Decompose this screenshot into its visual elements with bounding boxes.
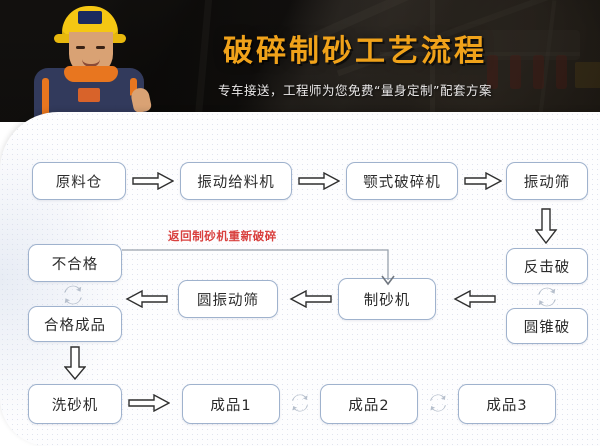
flow-node-label: 反击破 xyxy=(524,256,571,277)
flow-node-label: 圆锥破 xyxy=(524,316,571,337)
arrow-right-washer-to-product1 xyxy=(128,394,170,412)
flow-node-unqualified[interactable]: 不合格 xyxy=(28,244,122,282)
flow-node-jaw-crusher[interactable]: 颚式破碎机 xyxy=(346,162,458,200)
recycle-arrows-icon xyxy=(428,393,448,417)
banner-title: 破碎制砂工艺流程 xyxy=(0,26,600,70)
arrow-right-silo-to-feeder xyxy=(132,172,174,190)
flow-node-product-1[interactable]: 成品1 xyxy=(182,384,280,424)
arrow-right-jaw-to-screen xyxy=(464,172,502,190)
flow-node-label: 振动筛 xyxy=(524,171,571,192)
flow-node-label: 洗砂机 xyxy=(52,394,99,415)
arrow-left-crushers-to-sandmaker xyxy=(452,290,496,308)
flow-node-label: 原料仓 xyxy=(56,171,103,192)
flow-node-vibrating-feeder[interactable]: 振动给料机 xyxy=(180,162,292,200)
flow-node-label: 振动给料机 xyxy=(197,171,275,192)
banner-subtitle: 专车接送，工程师为您免费“量身定制”配套方案 xyxy=(0,80,600,99)
arrow-right-feeder-to-jaw xyxy=(298,172,340,190)
flowchart-card: 原料仓 振动给料机 颚式破碎机 振动筛 xyxy=(0,112,600,446)
flow-node-label: 不合格 xyxy=(52,253,99,274)
flow-node-product-3[interactable]: 成品3 xyxy=(458,384,556,424)
flow-node-impact-crusher[interactable]: 反击破 xyxy=(506,248,588,284)
arrow-down-screen-to-impact xyxy=(535,208,557,244)
recycle-arrows-icon xyxy=(290,393,310,417)
flow-node-sand-washer[interactable]: 洗砂机 xyxy=(28,384,122,424)
flow-node-label: 合格成品 xyxy=(44,314,106,335)
flow-node-label: 成品3 xyxy=(486,394,527,415)
header-banner: 破碎制砂工艺流程 专车接送，工程师为您免费“量身定制”配套方案 xyxy=(0,0,600,122)
flow-node-label: 成品1 xyxy=(210,394,251,415)
flow-node-product-2[interactable]: 成品2 xyxy=(320,384,418,424)
flow-node-cone-crusher[interactable]: 圆锥破 xyxy=(506,308,588,344)
flow-node-raw-silo[interactable]: 原料仓 xyxy=(32,162,126,200)
flow-node-qualified-product[interactable]: 合格成品 xyxy=(28,306,122,342)
flow-node-vibrating-screen[interactable]: 振动筛 xyxy=(506,162,588,200)
return-flow-connector xyxy=(120,242,400,298)
flow-node-label: 成品2 xyxy=(348,394,389,415)
flowchart-page: 破碎制砂工艺流程 专车接送，工程师为您免费“量身定制”配套方案 原料仓 振动给料… xyxy=(0,0,600,446)
arrow-down-qualified-to-washer xyxy=(64,346,86,380)
hard-hat-badge xyxy=(78,11,102,24)
flow-node-label: 颚式破碎机 xyxy=(363,171,441,192)
